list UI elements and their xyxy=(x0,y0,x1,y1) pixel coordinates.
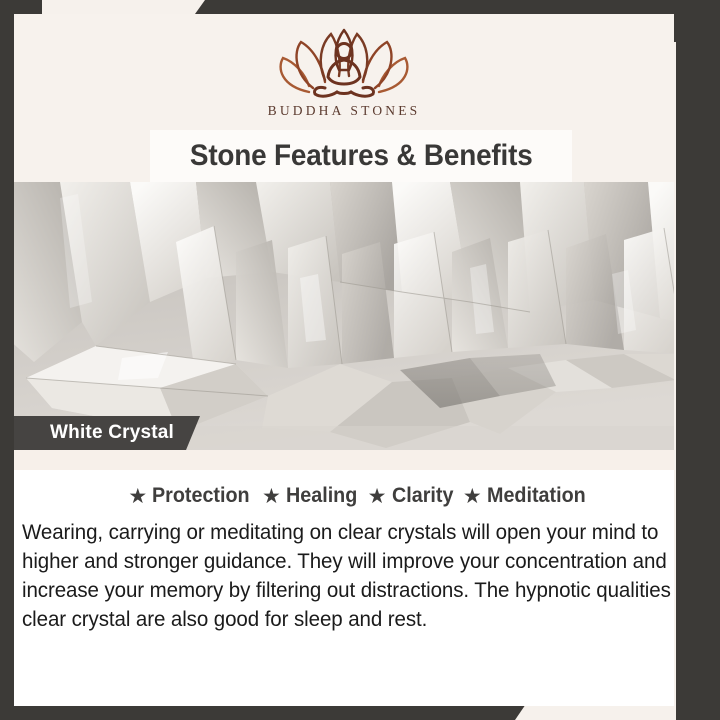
title-panel: Stone Features & Benefits xyxy=(150,130,572,182)
brand-name: BUDDHA STONES xyxy=(268,103,421,119)
star-icon: ★ xyxy=(262,486,281,507)
benefit-item-clarity: ★ Clarity xyxy=(368,484,457,508)
content-area: ★ Protection ★ Healing ★ Clarity ★ Medit… xyxy=(14,470,674,706)
benefit-item-healing: ★ Healing xyxy=(262,484,362,508)
benefit-label: Meditation xyxy=(487,484,586,508)
photo-label-text: White Crystal xyxy=(50,422,174,444)
info-card: BUDDHA STONES Stone Features & Benefits xyxy=(14,14,674,706)
star-icon: ★ xyxy=(463,486,482,507)
crystal-photo-illustration xyxy=(14,182,674,450)
lotus-meditation-icon xyxy=(269,24,419,102)
crystal-photo: White Crystal xyxy=(14,182,674,450)
frame-bar-right xyxy=(676,0,720,720)
star-icon: ★ xyxy=(128,486,147,507)
benefit-label: Clarity xyxy=(392,484,453,508)
benefit-item-protection: ★ Protection xyxy=(128,484,256,508)
description-paragraph: Wearing, carrying or meditating on clear… xyxy=(22,518,674,634)
divider-strip xyxy=(14,450,674,470)
benefit-label: Protection xyxy=(152,484,250,508)
brand-header: BUDDHA STONES xyxy=(14,14,674,132)
benefit-label: Healing xyxy=(286,484,357,508)
benefit-item-meditation: ★ Meditation xyxy=(463,484,592,508)
benefits-list: ★ Protection ★ Healing ★ Clarity ★ Medit… xyxy=(22,484,674,508)
star-icon: ★ xyxy=(368,486,387,507)
page-title: Stone Features & Benefits xyxy=(190,139,533,173)
photo-label-banner: White Crystal xyxy=(14,416,200,450)
title-banner: Stone Features & Benefits xyxy=(14,132,674,182)
